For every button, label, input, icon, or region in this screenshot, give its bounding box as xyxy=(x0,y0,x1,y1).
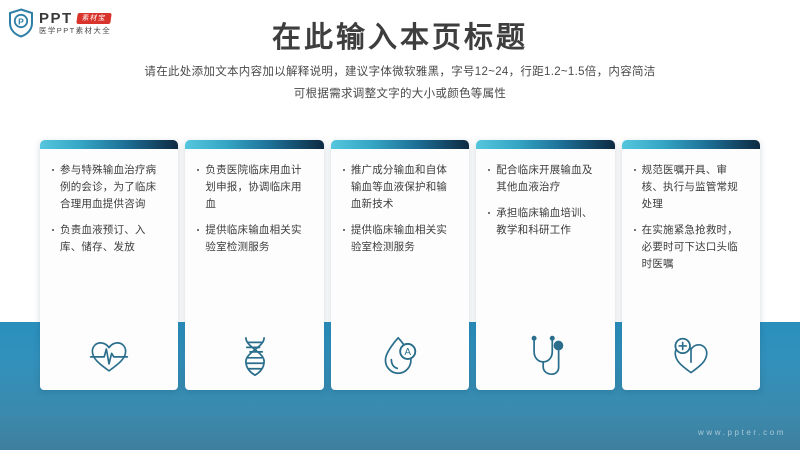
blood-drop-type-a-icon: A xyxy=(331,328,469,390)
card-bullet-item: 规范医嘱开具、审核、执行与监管常规处理 xyxy=(633,162,747,213)
card-bullet-item: 提供临床输血相关实验室检测服务 xyxy=(342,222,456,256)
card-bullet-item: 提供临床输血相关实验室检测服务 xyxy=(196,222,310,256)
card-bullet-list: 负责医院临床用血计划申报，协调临床用血 提供临床输血相关实验室检测服务 xyxy=(196,162,310,256)
heart-plus-icon xyxy=(622,328,760,390)
content-card[interactable]: 规范医嘱开具、审核、执行与监管常规处理 在实施紧急抢救时，必要时可下达口头临时医… xyxy=(622,140,760,390)
slide-canvas: P PPT 素材宝 医学PPT素材大全 在此输入本页标题 请在此处添加文本内容加… xyxy=(0,0,800,450)
card-body: 推广成分输血和自体输血等血液保护和输血新技术 提供临床输血相关实验室检测服务 xyxy=(331,140,469,328)
site-watermark: www.ppter.com xyxy=(698,428,786,437)
card-accent-bar xyxy=(622,140,760,149)
card-bullet-item: 参与特殊输血治疗病例的会诊，为了临床合理用血提供咨询 xyxy=(51,162,165,213)
card-bullet-item: 负责血液预订、入库、储存、发放 xyxy=(51,222,165,256)
card-body: 配合临床开展输血及其他血液治疗 承担临床输血培训、教学和科研工作 xyxy=(476,140,614,328)
subtitle-line-2: 可根据需求调整文字的大小或颜色等属性 xyxy=(0,84,800,106)
stethoscope-icon xyxy=(476,328,614,390)
card-bullet-item: 承担临床输血培训、教学和科研工作 xyxy=(487,205,601,239)
content-card[interactable]: 参与特殊输血治疗病例的会诊，为了临床合理用血提供咨询 负责血液预订、入库、储存、… xyxy=(40,140,178,390)
svg-text:A: A xyxy=(404,347,411,358)
card-accent-bar xyxy=(40,140,178,149)
card-row: 参与特殊输血治疗病例的会诊，为了临床合理用血提供咨询 负责血液预订、入库、储存、… xyxy=(40,140,760,390)
card-bullet-item: 在实施紧急抢救时，必要时可下达口头临时医嘱 xyxy=(633,222,747,273)
content-card[interactable]: 配合临床开展输血及其他血液治疗 承担临床输血培训、教学和科研工作 xyxy=(476,140,614,390)
card-bullet-list: 推广成分输血和自体输血等血液保护和输血新技术 提供临床输血相关实验室检测服务 xyxy=(342,162,456,256)
card-body: 规范医嘱开具、审核、执行与监管常规处理 在实施紧急抢救时，必要时可下达口头临时医… xyxy=(622,140,760,328)
card-accent-bar xyxy=(331,140,469,149)
card-bullet-item: 推广成分输血和自体输血等血液保护和输血新技术 xyxy=(342,162,456,213)
card-body: 参与特殊输血治疗病例的会诊，为了临床合理用血提供咨询 负责血液预订、入库、储存、… xyxy=(40,140,178,328)
page-subtitle: 请在此处添加文本内容加以解释说明，建议字体微软雅黑，字号12~24，行距1.2~… xyxy=(0,62,800,106)
card-bullet-item: 负责医院临床用血计划申报，协调临床用血 xyxy=(196,162,310,213)
card-bullet-item: 配合临床开展输血及其他血液治疗 xyxy=(487,162,601,196)
card-bullet-list: 配合临床开展输血及其他血液治疗 承担临床输血培训、教学和科研工作 xyxy=(487,162,601,239)
card-bullet-list: 参与特殊输血治疗病例的会诊，为了临床合理用血提供咨询 负责血液预订、入库、储存、… xyxy=(51,162,165,256)
heart-pulse-icon xyxy=(40,328,178,390)
card-bullet-list: 规范医嘱开具、审核、执行与监管常规处理 在实施紧急抢救时，必要时可下达口头临时医… xyxy=(633,162,747,273)
card-accent-bar xyxy=(476,140,614,149)
card-accent-bar xyxy=(185,140,323,149)
content-card[interactable]: 推广成分输血和自体输血等血液保护和输血新技术 提供临床输血相关实验室检测服务 A xyxy=(331,140,469,390)
dna-helix-icon xyxy=(185,328,323,390)
card-body: 负责医院临床用血计划申报，协调临床用血 提供临床输血相关实验室检测服务 xyxy=(185,140,323,328)
content-card[interactable]: 负责医院临床用血计划申报，协调临床用血 提供临床输血相关实验室检测服务 xyxy=(185,140,323,390)
page-title: 在此输入本页标题 xyxy=(0,14,800,56)
subtitle-line-1: 请在此处添加文本内容加以解释说明，建议字体微软雅黑，字号12~24，行距1.2~… xyxy=(0,62,800,84)
